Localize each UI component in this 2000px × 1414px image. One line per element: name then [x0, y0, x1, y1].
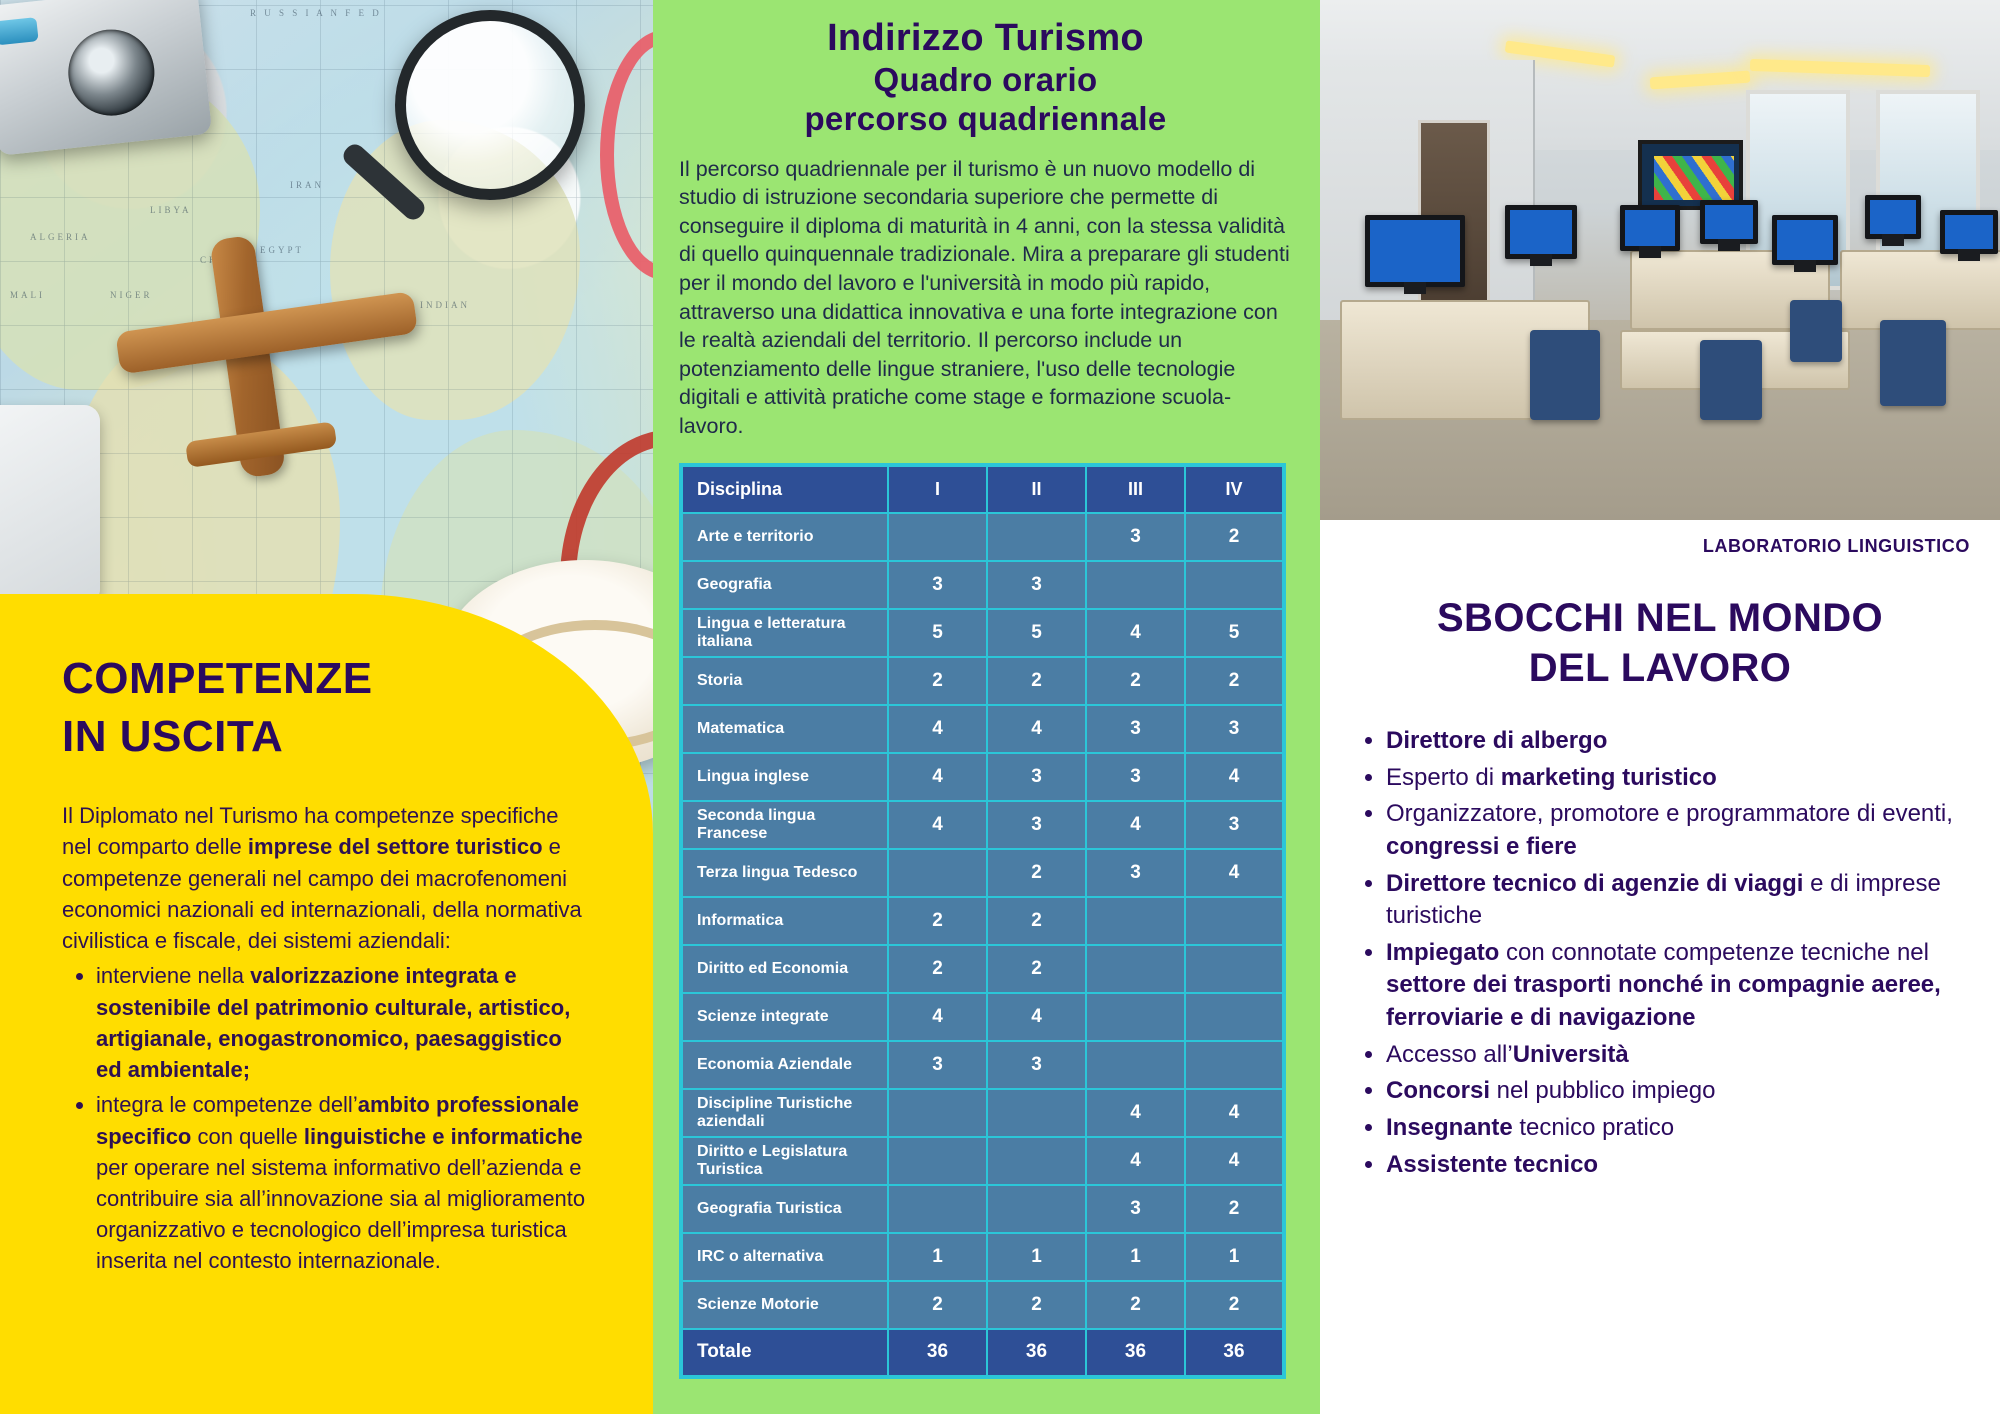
cell-ore-III — [1086, 897, 1185, 945]
sbocchi-title-line2: DEL LAVORO — [1320, 643, 2000, 693]
cell-ore-II: 2 — [987, 1281, 1086, 1329]
table-row: Arte e territorio32 — [681, 513, 1284, 561]
cell-disciplina: Economia Aziendale — [681, 1041, 888, 1089]
cell-ore-I: 3 — [888, 561, 987, 609]
chair — [1790, 300, 1842, 362]
cell-ore-I: 4 — [888, 993, 987, 1041]
table-header: Disciplina I II III IV — [681, 465, 1284, 513]
table-header-row: Disciplina I II III IV — [681, 465, 1284, 513]
cell-totale-II: 36 — [987, 1329, 1086, 1377]
sbocchi-title-line1: SBOCCHI NEL MONDO — [1320, 593, 2000, 643]
smartphone-icon — [0, 405, 100, 605]
cell-ore-IV: 2 — [1185, 657, 1284, 705]
percorso-description: Il percorso quadriennale per il turismo … — [679, 155, 1292, 441]
cell-ore-I — [888, 513, 987, 561]
left-column: R U S S I A N F E D ALGERIA MALI NIGER I… — [0, 0, 653, 1414]
cell-disciplina: IRC o alternativa — [681, 1233, 888, 1281]
cell-ore-I — [888, 849, 987, 897]
cell-disciplina: Arte e territorio — [681, 513, 888, 561]
competenze-panel: COMPETENZE IN USCITA Il Diplomato nel Tu… — [0, 594, 653, 1414]
table-row: Informatica22 — [681, 897, 1284, 945]
table-row: Seconda lingua Francese4343 — [681, 801, 1284, 849]
cell-disciplina: Informatica — [681, 897, 888, 945]
cell-ore-II: 3 — [987, 561, 1086, 609]
column-header-anno-2: II — [987, 465, 1086, 513]
computer-monitor — [1620, 205, 1680, 251]
list-item: Concorsi nel pubblico impiego — [1386, 1075, 1956, 1108]
wooden-plane-icon — [114, 208, 476, 501]
cell-ore-II — [987, 1137, 1086, 1185]
magnifier-icon — [395, 10, 585, 200]
cell-disciplina: Scienze integrate — [681, 993, 888, 1041]
table-body: Arte e territorio32Geografia33Lingua e l… — [681, 513, 1284, 1377]
map-label: MALI — [10, 290, 45, 300]
cell-ore-I: 4 — [888, 705, 987, 753]
cell-ore-III: 3 — [1086, 705, 1185, 753]
cell-ore-IV — [1185, 945, 1284, 993]
cell-ore-IV: 4 — [1185, 849, 1284, 897]
list-item: Esperto di marketing turistico — [1386, 762, 1956, 795]
computer-monitor — [1940, 210, 1998, 254]
cell-ore-III: 4 — [1086, 609, 1185, 657]
cell-ore-IV — [1185, 1041, 1284, 1089]
list-item: Insegnante tecnico pratico — [1386, 1112, 1956, 1145]
cell-disciplina: Lingua inglese — [681, 753, 888, 801]
cell-disciplina: Storia — [681, 657, 888, 705]
cell-ore-III: 3 — [1086, 1185, 1185, 1233]
desk — [1840, 250, 2000, 330]
cell-totale-IV: 36 — [1185, 1329, 1284, 1377]
cell-ore-III: 4 — [1086, 1089, 1185, 1137]
cell-totale-III: 36 — [1086, 1329, 1185, 1377]
competenze-title-line2: IN USCITA — [62, 708, 593, 766]
list-item: interviene nella valorizzazione integrat… — [96, 960, 593, 1085]
cell-ore-III: 2 — [1086, 657, 1185, 705]
map-label: IRAN — [290, 180, 324, 190]
cell-ore-IV: 4 — [1185, 753, 1284, 801]
list-item: Impiegato con connotate competenze tecni… — [1386, 937, 1956, 1035]
cell-ore-II: 2 — [987, 945, 1086, 993]
title-line-quadro: Quadro orario — [679, 61, 1292, 100]
cell-ore-III: 4 — [1086, 1137, 1185, 1185]
cell-disciplina: Scienze Motorie — [681, 1281, 888, 1329]
cell-ore-IV — [1185, 897, 1284, 945]
table-row: Geografia Turistica32 — [681, 1185, 1284, 1233]
cell-ore-II: 4 — [987, 993, 1086, 1041]
language-lab-photo — [1320, 0, 2000, 520]
competenze-body: Il Diplomato nel Turismo ha competenze s… — [62, 800, 593, 1277]
cell-ore-IV: 3 — [1185, 705, 1284, 753]
cell-disciplina: Terza lingua Tedesco — [681, 849, 888, 897]
title-line-percorso: percorso quadriennale — [679, 100, 1292, 139]
list-item: Assistente tecnico — [1386, 1149, 1956, 1182]
cell-ore-I: 1 — [888, 1233, 987, 1281]
cell-ore-IV: 5 — [1185, 609, 1284, 657]
cell-disciplina: Geografia — [681, 561, 888, 609]
cell-disciplina: Matematica — [681, 705, 888, 753]
table-row: Diritto e Legislatura Turistica44 — [681, 1137, 1284, 1185]
cell-ore-III — [1086, 1041, 1185, 1089]
cell-disciplina: Lingua e letteratura italiana — [681, 609, 888, 657]
cell-ore-IV: 4 — [1185, 1089, 1284, 1137]
sbocchi-title: SBOCCHI NEL MONDO DEL LAVORO — [1320, 593, 2000, 693]
map-label: ALGERIA — [30, 232, 91, 242]
cell-ore-I: 2 — [888, 1281, 987, 1329]
sbocchi-bullet-list: Direttore di albergoEsperto di marketing… — [1386, 725, 1956, 1181]
cell-ore-I: 2 — [888, 657, 987, 705]
column-header-disciplina: Disciplina — [681, 465, 888, 513]
competenze-intro: Il Diplomato nel Turismo ha competenze s… — [62, 800, 593, 956]
cell-ore-III — [1086, 945, 1185, 993]
table-row: Scienze integrate44 — [681, 993, 1284, 1041]
cell-ore-I: 2 — [888, 945, 987, 993]
cell-ore-III: 4 — [1086, 801, 1185, 849]
table-row: Lingua inglese4334 — [681, 753, 1284, 801]
camera-icon — [0, 0, 212, 156]
middle-column: Indirizzo Turismo Quadro orario percorso… — [653, 0, 1320, 1414]
competenze-title: COMPETENZE IN USCITA — [62, 650, 593, 766]
column-header-anno-1: I — [888, 465, 987, 513]
cell-ore-IV: 2 — [1185, 1281, 1284, 1329]
cell-totale-I: 36 — [888, 1329, 987, 1377]
cell-ore-III: 3 — [1086, 753, 1185, 801]
computer-monitor — [1365, 215, 1465, 287]
chair — [1880, 320, 1946, 406]
table-total-row: Totale36363636 — [681, 1329, 1284, 1377]
competenze-bullet-list: interviene nella valorizzazione integrat… — [96, 960, 593, 1276]
cell-ore-I: 5 — [888, 609, 987, 657]
map-label: LIBYA — [150, 205, 192, 215]
cell-disciplina: Diritto ed Economia — [681, 945, 888, 993]
cell-ore-II: 3 — [987, 1041, 1086, 1089]
cell-ore-II — [987, 513, 1086, 561]
computer-monitor — [1772, 215, 1838, 265]
table-row: Economia Aziendale33 — [681, 1041, 1284, 1089]
cell-ore-II: 3 — [987, 801, 1086, 849]
cell-ore-III: 2 — [1086, 1281, 1185, 1329]
cell-ore-IV: 2 — [1185, 513, 1284, 561]
cell-ore-II: 3 — [987, 753, 1086, 801]
table-row: IRC o alternativa1111 — [681, 1233, 1284, 1281]
cell-ore-I: 3 — [888, 1041, 987, 1089]
cell-ore-III: 3 — [1086, 849, 1185, 897]
cell-ore-II: 2 — [987, 849, 1086, 897]
list-item: Direttore tecnico di agenzie di viaggi e… — [1386, 868, 1956, 933]
chair — [1530, 330, 1600, 420]
table-row: Storia2222 — [681, 657, 1284, 705]
cell-ore-III: 1 — [1086, 1233, 1185, 1281]
cell-disciplina: Geografia Turistica — [681, 1185, 888, 1233]
table-row: Lingua e letteratura italiana5545 — [681, 609, 1284, 657]
list-item: Organizzatore, promotore e programmatore… — [1386, 798, 1956, 863]
table-row: Diritto ed Economia22 — [681, 945, 1284, 993]
table-row: Geografia33 — [681, 561, 1284, 609]
cell-ore-II: 2 — [987, 657, 1086, 705]
map-label: R U S S I A N F E D — [250, 8, 382, 18]
table-row: Terza lingua Tedesco234 — [681, 849, 1284, 897]
chair — [1700, 340, 1762, 420]
column-header-anno-4: IV — [1185, 465, 1284, 513]
column-header-anno-3: III — [1086, 465, 1185, 513]
cell-disciplina: Seconda lingua Francese — [681, 801, 888, 849]
quadro-orario-title: Indirizzo Turismo Quadro orario percorso… — [679, 16, 1292, 139]
cell-disciplina: Diritto e Legislatura Turistica — [681, 1137, 888, 1185]
cell-ore-I — [888, 1089, 987, 1137]
brochure-page: R U S S I A N F E D ALGERIA MALI NIGER I… — [0, 0, 2000, 1414]
table-row: Matematica4433 — [681, 705, 1284, 753]
table-row: Discipline Turistiche aziendali44 — [681, 1089, 1284, 1137]
title-line-indirizzo: Indirizzo Turismo — [679, 16, 1292, 61]
computer-monitor — [1865, 195, 1921, 239]
cell-ore-II: 1 — [987, 1233, 1086, 1281]
cell-ore-IV — [1185, 561, 1284, 609]
photo-caption: LABORATORIO LINGUISTICO — [1320, 520, 2000, 557]
cell-ore-I: 2 — [888, 897, 987, 945]
cell-ore-IV: 1 — [1185, 1233, 1284, 1281]
cell-ore-III — [1086, 561, 1185, 609]
list-item: Accesso all’Università — [1386, 1039, 1956, 1072]
cell-ore-IV: 4 — [1185, 1137, 1284, 1185]
list-item: Direttore di albergo — [1386, 725, 1956, 758]
cell-ore-III — [1086, 993, 1185, 1041]
right-column: LABORATORIO LINGUISTICO SBOCCHI NEL MOND… — [1320, 0, 2000, 1414]
cell-ore-IV — [1185, 993, 1284, 1041]
cell-ore-I: 4 — [888, 753, 987, 801]
cell-ore-IV: 3 — [1185, 801, 1284, 849]
cell-totale-label: Totale — [681, 1329, 888, 1377]
cell-ore-IV: 2 — [1185, 1185, 1284, 1233]
cell-ore-I — [888, 1137, 987, 1185]
cell-disciplina: Discipline Turistiche aziendali — [681, 1089, 888, 1137]
competenze-title-line1: COMPETENZE — [62, 650, 593, 708]
table-row: Scienze Motorie2222 — [681, 1281, 1284, 1329]
cell-ore-II: 2 — [987, 897, 1086, 945]
list-item: integra le competenze dell’ambito profes… — [96, 1089, 593, 1276]
computer-monitor — [1505, 205, 1577, 259]
cell-ore-II — [987, 1185, 1086, 1233]
computer-monitor — [1700, 200, 1758, 244]
quadro-orario-table: Disciplina I II III IV Arte e territorio… — [679, 463, 1286, 1379]
cell-ore-II: 5 — [987, 609, 1086, 657]
cell-ore-II — [987, 1089, 1086, 1137]
cell-ore-I — [888, 1185, 987, 1233]
cell-ore-III: 3 — [1086, 513, 1185, 561]
cell-ore-II: 4 — [987, 705, 1086, 753]
cell-ore-I: 4 — [888, 801, 987, 849]
